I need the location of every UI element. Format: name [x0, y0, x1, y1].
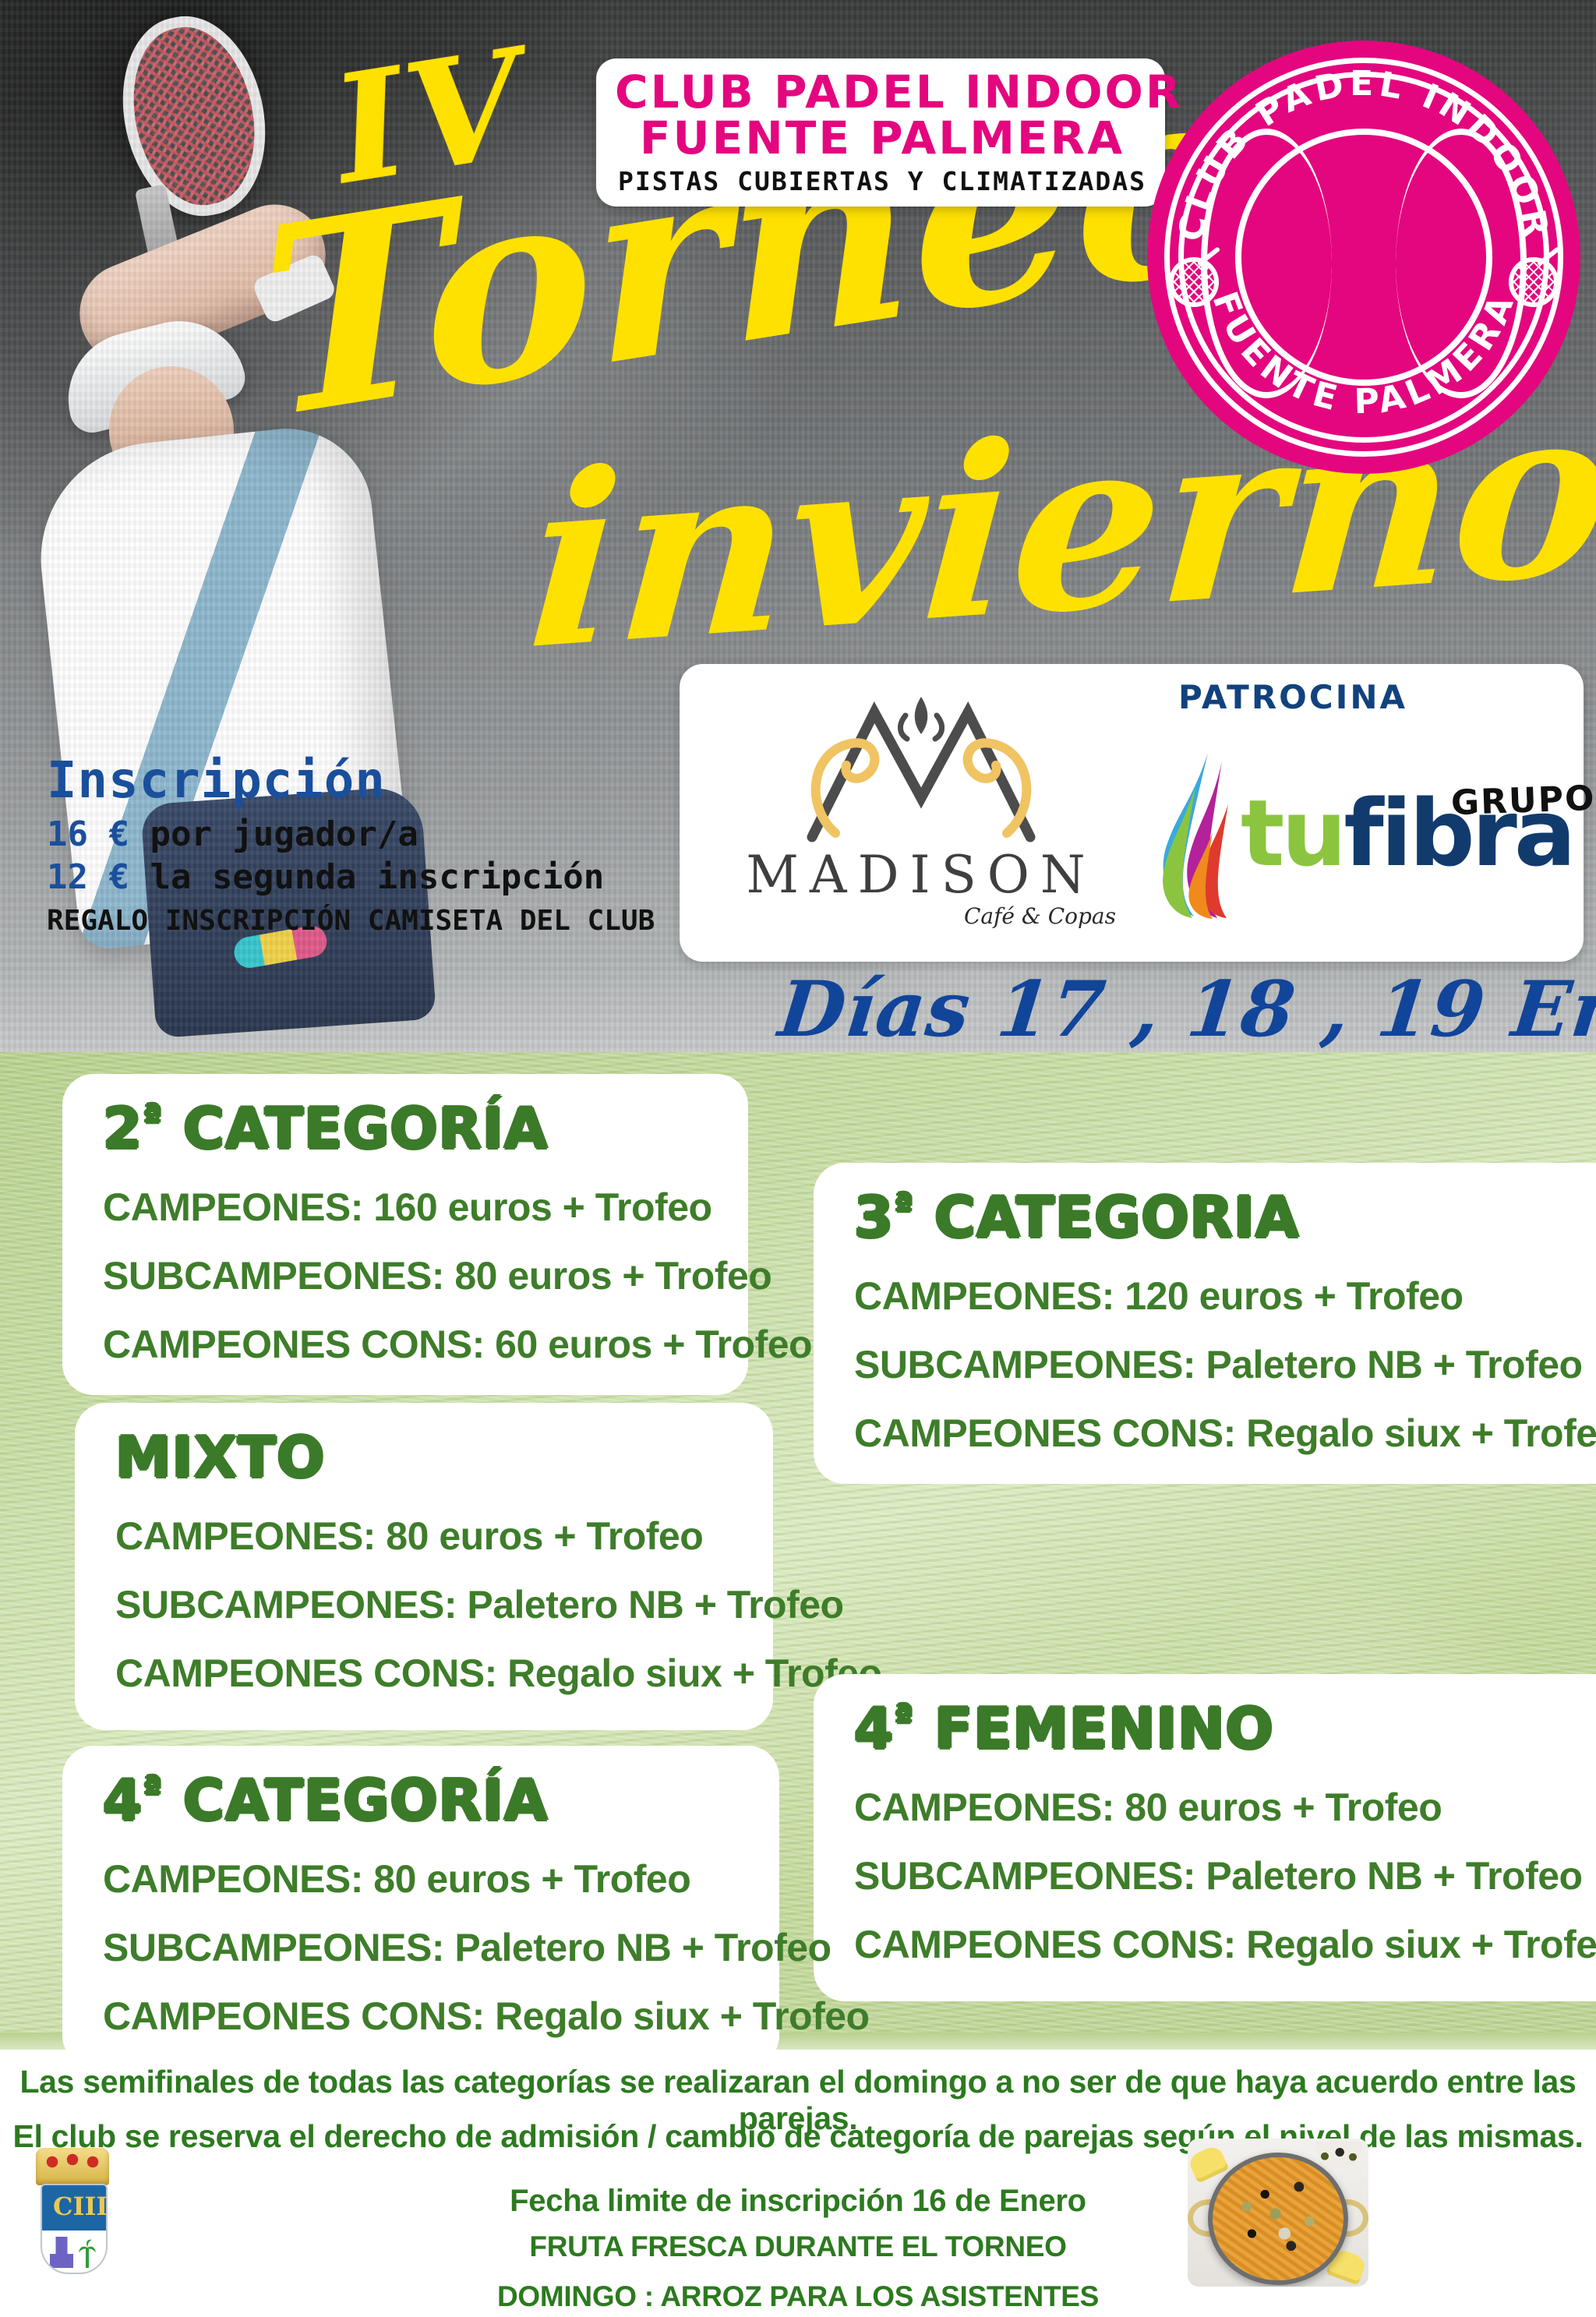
- category-card-2a: 2ª CATEGORÍA CAMPEONES: 160 euros + Trof…: [62, 1074, 748, 1395]
- racquet-handle: [135, 184, 196, 335]
- tufibra-grupo-label: GRUPO: [1450, 779, 1596, 823]
- paella-photo: [1188, 2139, 1368, 2287]
- badge-arc-text: CLUB PADEL INDOOR FUENTE PALMERA: [1147, 41, 1580, 474]
- category-title-rest: CATEGORÍA: [163, 1768, 549, 1833]
- crown-icon: [36, 2148, 109, 2185]
- category-title-ordinal: ª: [894, 1697, 914, 1737]
- madison-tagline: Café & Copas: [703, 903, 1139, 929]
- prize-line-runnersup: SUBCAMPEONES: Paletero NB + Trofeo: [115, 1582, 736, 1627]
- category-title-ordinal: ª: [894, 1186, 914, 1226]
- category-card-mixto: MIXTO CAMPEONES: 80 euros + Trofeo SUBCA…: [75, 1403, 773, 1730]
- inscription-gift-note: REGALO INSCRIPCIÓN CAMISETA DEL CLUB: [47, 905, 592, 937]
- club-name-line2: FUENTE PALMERA: [615, 115, 1149, 161]
- inscription-title: Inscripción: [47, 752, 592, 810]
- category-title-number: 4: [103, 1768, 143, 1833]
- sponsor-heading: PATROCINA: [1178, 678, 1407, 716]
- tufibra-flame-icon: [1147, 750, 1256, 921]
- shield-icon: CIII: [41, 2184, 108, 2274]
- inscription-label-2: la segunda inscripción: [150, 857, 604, 897]
- tufibra-word-tu: tu: [1241, 779, 1344, 887]
- inscription-price-row-1: 16 € por jugador/a: [47, 814, 592, 854]
- player-head: [101, 358, 242, 503]
- category-title: 4ª CATEGORÍA: [103, 1768, 742, 1833]
- prize-line-consolation: CAMPEONES CONS: Regalo siux + Trofeo: [854, 1922, 1559, 1967]
- club-name-line1: CLUB PADEL INDOOR: [615, 69, 1149, 115]
- tournament-dates: Días 17 , 18 , 19 Enero: [775, 965, 1596, 1054]
- category-card-4a-femenino: 4ª FEMENINO CAMPEONES: 80 euros + Trofeo…: [814, 1674, 1596, 2001]
- palm-tree-icon: [78, 2238, 97, 2268]
- category-card-4a: 4ª CATEGORÍA CAMPEONES: 80 euros + Trofe…: [62, 1746, 779, 2067]
- madison-monogram-icon: [789, 689, 1054, 845]
- category-title-ordinal: ª: [143, 1769, 163, 1809]
- prize-line-runnersup: SUBCAMPEONES: 80 euros + Trofeo: [103, 1253, 711, 1298]
- category-title-number: 3: [854, 1185, 894, 1250]
- category-title: 2ª CATEGORÍA: [103, 1096, 711, 1161]
- club-badge-logo: CLUB PADEL INDOOR FUENTE PALMERA: [1147, 41, 1580, 474]
- inscription-price-2: 12 €: [47, 857, 129, 897]
- prize-line-champions: CAMPEONES: 80 euros + Trofeo: [854, 1785, 1559, 1830]
- madison-wordmark: MADISON: [703, 845, 1139, 905]
- inscription-block: Inscripción 16 € por jugador/a 12 € la s…: [47, 752, 592, 937]
- category-title-number: 4: [854, 1696, 894, 1761]
- player-cap: [55, 307, 250, 437]
- prize-line-champions: CAMPEONES: 160 euros + Trofeo: [103, 1185, 711, 1230]
- category-title: 4ª FEMENINO: [854, 1696, 1559, 1761]
- prize-line-consolation: CAMPEONES CONS: Regalo siux + Trofeo: [854, 1411, 1559, 1456]
- paella-pan: [1208, 2153, 1348, 2285]
- svg-text:CLUB PADEL INDOOR: CLUB PADEL INDOOR: [1171, 64, 1557, 244]
- prize-line-champions: CAMPEONES: 120 euros + Trofeo: [854, 1273, 1559, 1319]
- club-name-panel: CLUB PADEL INDOOR FUENTE PALMERA PISTAS …: [596, 58, 1165, 207]
- svg-text:FUENTE PALMERA: FUENTE PALMERA: [1205, 287, 1524, 422]
- category-title-number: 2: [103, 1096, 143, 1161]
- crest-monogram: CIII: [53, 2192, 108, 2221]
- category-title: MIXTO: [115, 1425, 736, 1490]
- prize-line-champions: CAMPEONES: 80 euros + Trofeo: [115, 1513, 736, 1559]
- prize-line-consolation: CAMPEONES CONS: Regalo siux + Trofeo: [103, 1994, 742, 2039]
- inscription-price-1: 16 €: [47, 814, 129, 854]
- category-title-number: MIXTO: [115, 1425, 325, 1490]
- madison-logo: MADISON Café & Copas: [703, 681, 1139, 946]
- category-title-rest: CATEGORIA: [914, 1185, 1300, 1250]
- prize-line-champions: CAMPEONES: 80 euros + Trofeo: [103, 1856, 742, 1902]
- inscription-price-row-2: 12 € la segunda inscripción: [47, 857, 592, 897]
- category-title-rest: FEMENINO: [914, 1696, 1274, 1761]
- tournament-poster: IV Torneo invierno CLUB PADEL INDOOR FUE…: [0, 0, 1596, 2317]
- prize-line-runnersup: SUBCAMPEONES: Paletero NB + Trofeo: [103, 1925, 742, 1970]
- category-title-rest: CATEGORÍA: [163, 1096, 549, 1161]
- category-card-3a: 3ª CATEGORIA CAMPEONES: 120 euros + Trof…: [814, 1163, 1596, 1484]
- olive-bowl: [1315, 2142, 1362, 2168]
- category-title-ordinal: ª: [143, 1097, 163, 1137]
- prize-line-consolation: CAMPEONES CONS: 60 euros + Trofeo: [103, 1322, 711, 1367]
- inscription-label-1: por jugador/a: [150, 814, 418, 854]
- category-title: 3ª CATEGORIA: [854, 1185, 1559, 1250]
- prize-line-runnersup: SUBCAMPEONES: Paletero NB + Trofeo: [854, 1342, 1559, 1387]
- prize-line-runnersup: SUBCAMPEONES: Paletero NB + Trofeo: [854, 1853, 1559, 1898]
- prize-line-consolation: CAMPEONES CONS: Regalo siux + Trofeo: [115, 1651, 736, 1696]
- sponsor-panel: PATROCINA MADISON Café & Copas: [680, 664, 1584, 962]
- tufibra-logo: tufibra GRUPO: [1147, 750, 1568, 945]
- club-facilities-note: PISTAS CUBIERTAS Y CLIMATIZADAS: [615, 166, 1149, 196]
- fountain-icon: [50, 2237, 73, 2268]
- municipal-coat-of-arms-icon: CIII: [22, 2148, 123, 2280]
